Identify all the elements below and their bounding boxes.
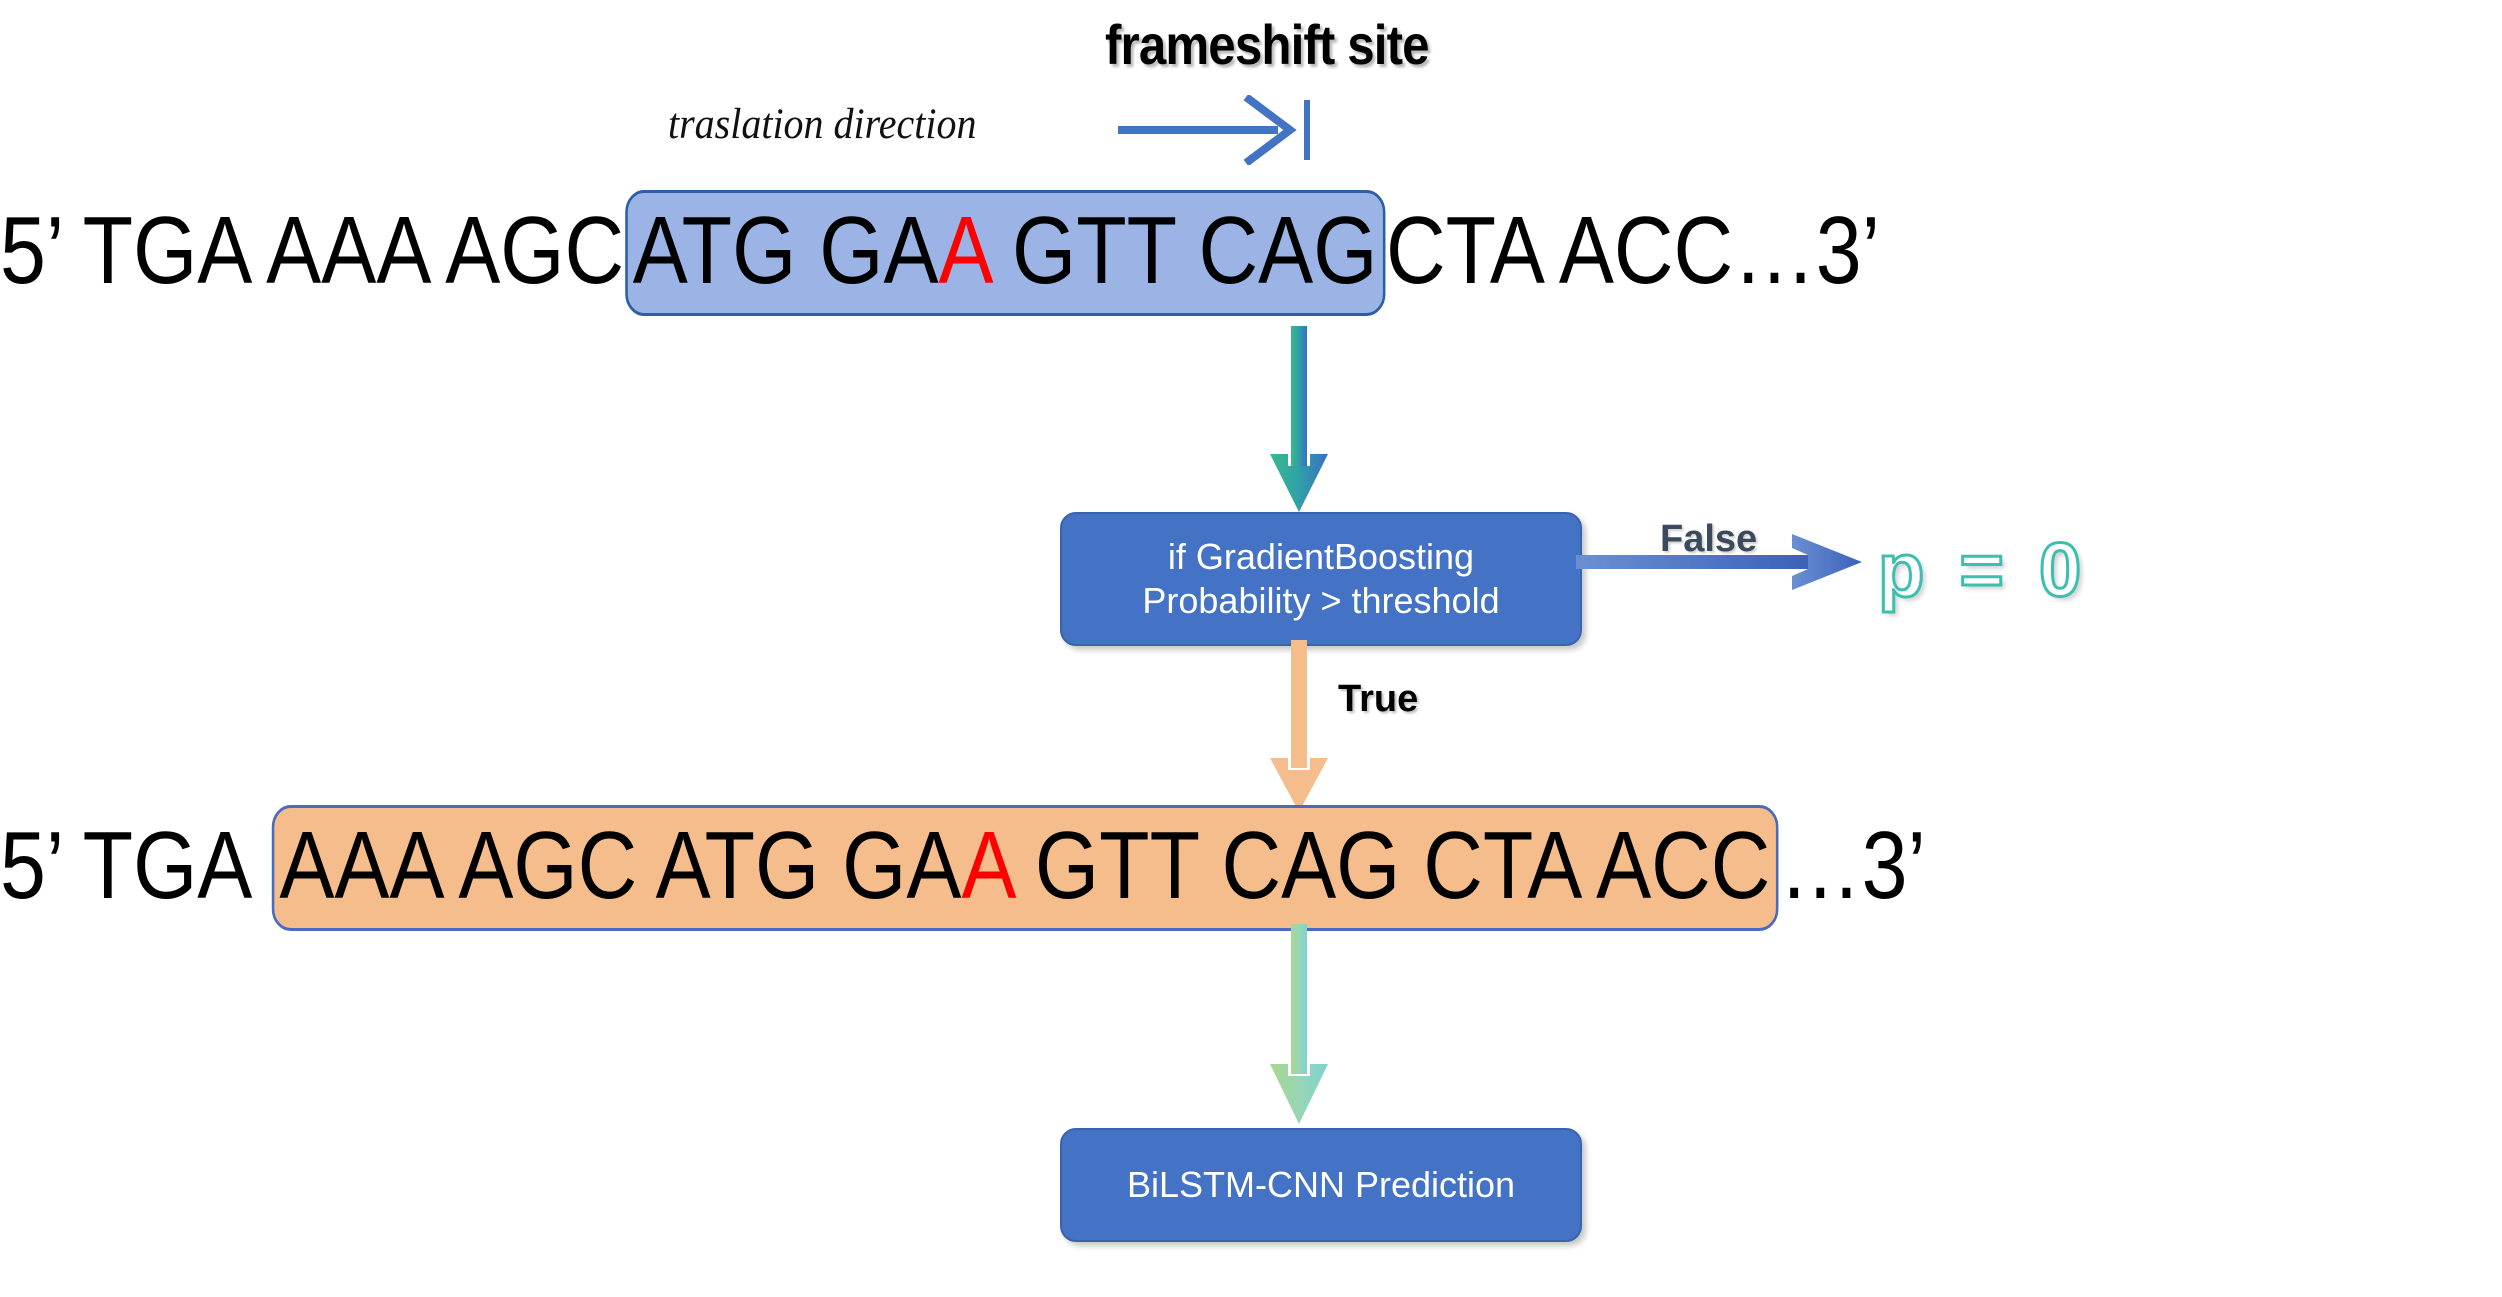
false-result-text: p = 0 bbox=[1878, 527, 2088, 614]
translation-direction-label: traslation direction bbox=[668, 100, 976, 149]
right-arrow-icon bbox=[1118, 95, 1308, 165]
diagram-canvas: frameshift site traslation direction 5’ … bbox=[0, 0, 2502, 1297]
frameshift-tick-marker bbox=[1304, 100, 1310, 160]
sequence-prefix: 5’ TGA bbox=[0, 812, 271, 919]
frameshift-site-label: frameshift site bbox=[1105, 12, 1429, 77]
sequence-prefix: 5’ TGA AAA AGC bbox=[0, 197, 624, 304]
codon-after-mutation: GTT CAG bbox=[989, 197, 1377, 304]
sequence-row-shifted: 5’ TGA AAA AGC ATG GAA GTT CAG CTA ACC…3… bbox=[0, 805, 2502, 931]
decision-box-line1: if GradientBoosting bbox=[1142, 535, 1499, 579]
codon-before-mutation: AAA AGC ATG GA bbox=[279, 812, 961, 919]
mutation-base: A bbox=[939, 197, 990, 304]
branch-label-false: False bbox=[1660, 518, 1757, 561]
codon-after-mutation: GTT CAG CTA ACC bbox=[1012, 812, 1770, 919]
down-arrow-icon-true-branch bbox=[1258, 640, 1348, 812]
prediction-box-label: BiLSTM-CNN Prediction bbox=[1127, 1164, 1515, 1206]
down-arrow-icon-seq-to-prediction bbox=[1258, 924, 1348, 1124]
decision-box-line2: Probability > threshold bbox=[1142, 579, 1499, 623]
codon-before-mutation: ATG GA bbox=[633, 197, 939, 304]
highlight-box-reading-frame: ATG GAA GTT CAG bbox=[625, 190, 1385, 316]
highlight-box-shifted-frame: AAA AGC ATG GAA GTT CAG CTA ACC bbox=[272, 805, 1779, 931]
prediction-box-bilstm-cnn[interactable]: BiLSTM-CNN Prediction bbox=[1060, 1128, 1582, 1242]
sequence-suffix: CTA ACC…3’ bbox=[1386, 197, 1880, 304]
branch-label-true: True bbox=[1338, 678, 1418, 721]
decision-box-gradient-boosting[interactable]: if GradientBoosting Probability > thresh… bbox=[1060, 512, 1582, 646]
sequence-suffix: …3’ bbox=[1779, 812, 1926, 919]
down-arrow-icon-seq-to-decision bbox=[1258, 326, 1348, 512]
sequence-row-original: 5’ TGA AAA AGCATG GAA GTT CAGCTA ACC…3’ bbox=[0, 190, 2502, 316]
mutation-base: A bbox=[961, 812, 1012, 919]
